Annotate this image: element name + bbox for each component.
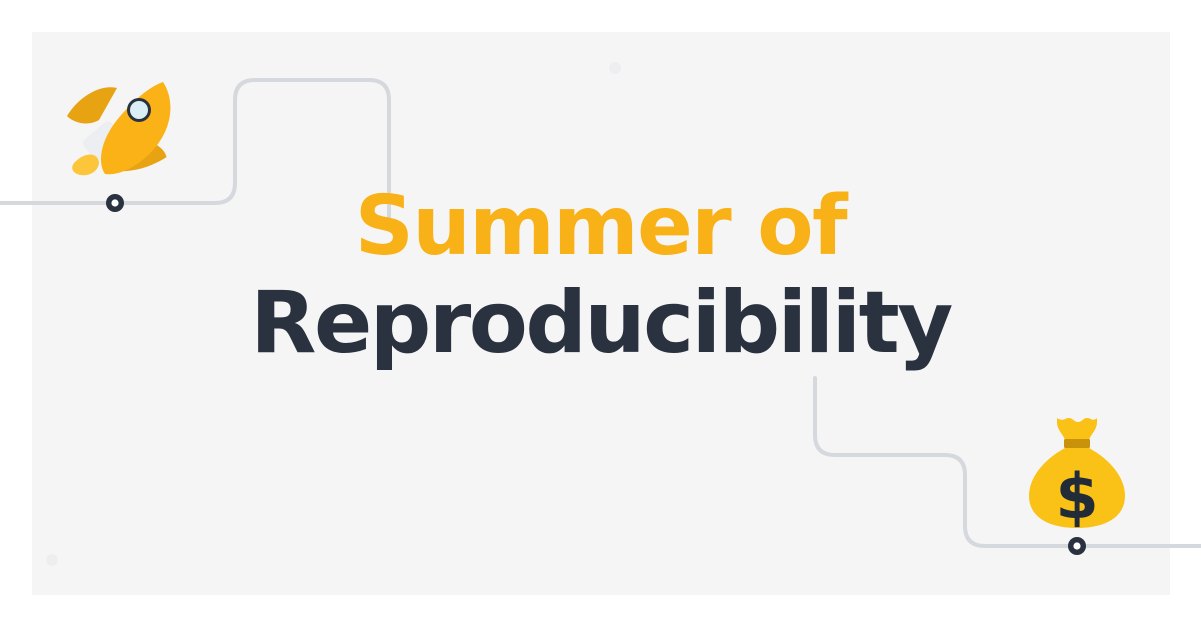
headline: Summer of Reproducibility xyxy=(0,186,1201,366)
headline-line-one: Summer of xyxy=(0,186,1201,268)
headline-line-two: Reproducibility xyxy=(0,280,1201,366)
banner-root: $ Summer of Reproducibility xyxy=(0,0,1201,628)
